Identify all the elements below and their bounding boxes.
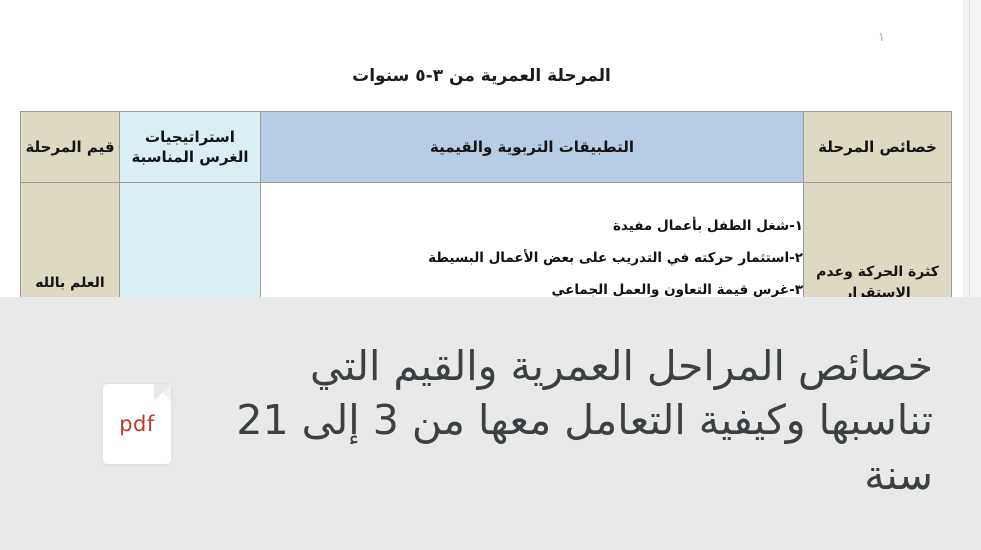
overlay-title: خصائص المراحل العمرية والقيم التي تناسبه… xyxy=(183,339,933,509)
pdf-document-icon[interactable]: pdf xyxy=(103,384,171,464)
table-header-row: خصائص المرحلة التطبيقات التربوية والقيمي… xyxy=(21,112,952,183)
page-number: ١ xyxy=(878,30,885,45)
screenshot-root: ١ المرحلة العمرية من ٣-٥ سنوات خصائص الم… xyxy=(0,0,981,550)
column-header-characteristics: خصائص المرحلة xyxy=(804,112,952,183)
column-header-strategies: استراتيجيات الغرس المناسبة xyxy=(120,112,261,183)
pdf-icon-fold xyxy=(154,384,171,401)
pdf-icon-label: pdf xyxy=(103,412,171,436)
column-header-applications: التطبيقات التربوية والقيمية xyxy=(261,112,804,183)
overlay-banner: خصائص المراحل العمرية والقيم التي تناسبه… xyxy=(0,297,981,550)
list-item: ١-شغل الطفل بأعمال مفيدة xyxy=(261,219,803,234)
list-item: ٢-استثمار حركته في التدريب على بعض الأعم… xyxy=(261,251,803,266)
overlay-content: خصائص المراحل العمرية والقيم التي تناسبه… xyxy=(0,297,981,550)
list-item: ٣-غرس قيمة التعاون والعمل الجماعي xyxy=(261,283,803,298)
column-header-values: قيم المرحلة xyxy=(21,112,120,183)
document-title: المرحلة العمرية من ٣-٥ سنوات xyxy=(0,66,963,86)
